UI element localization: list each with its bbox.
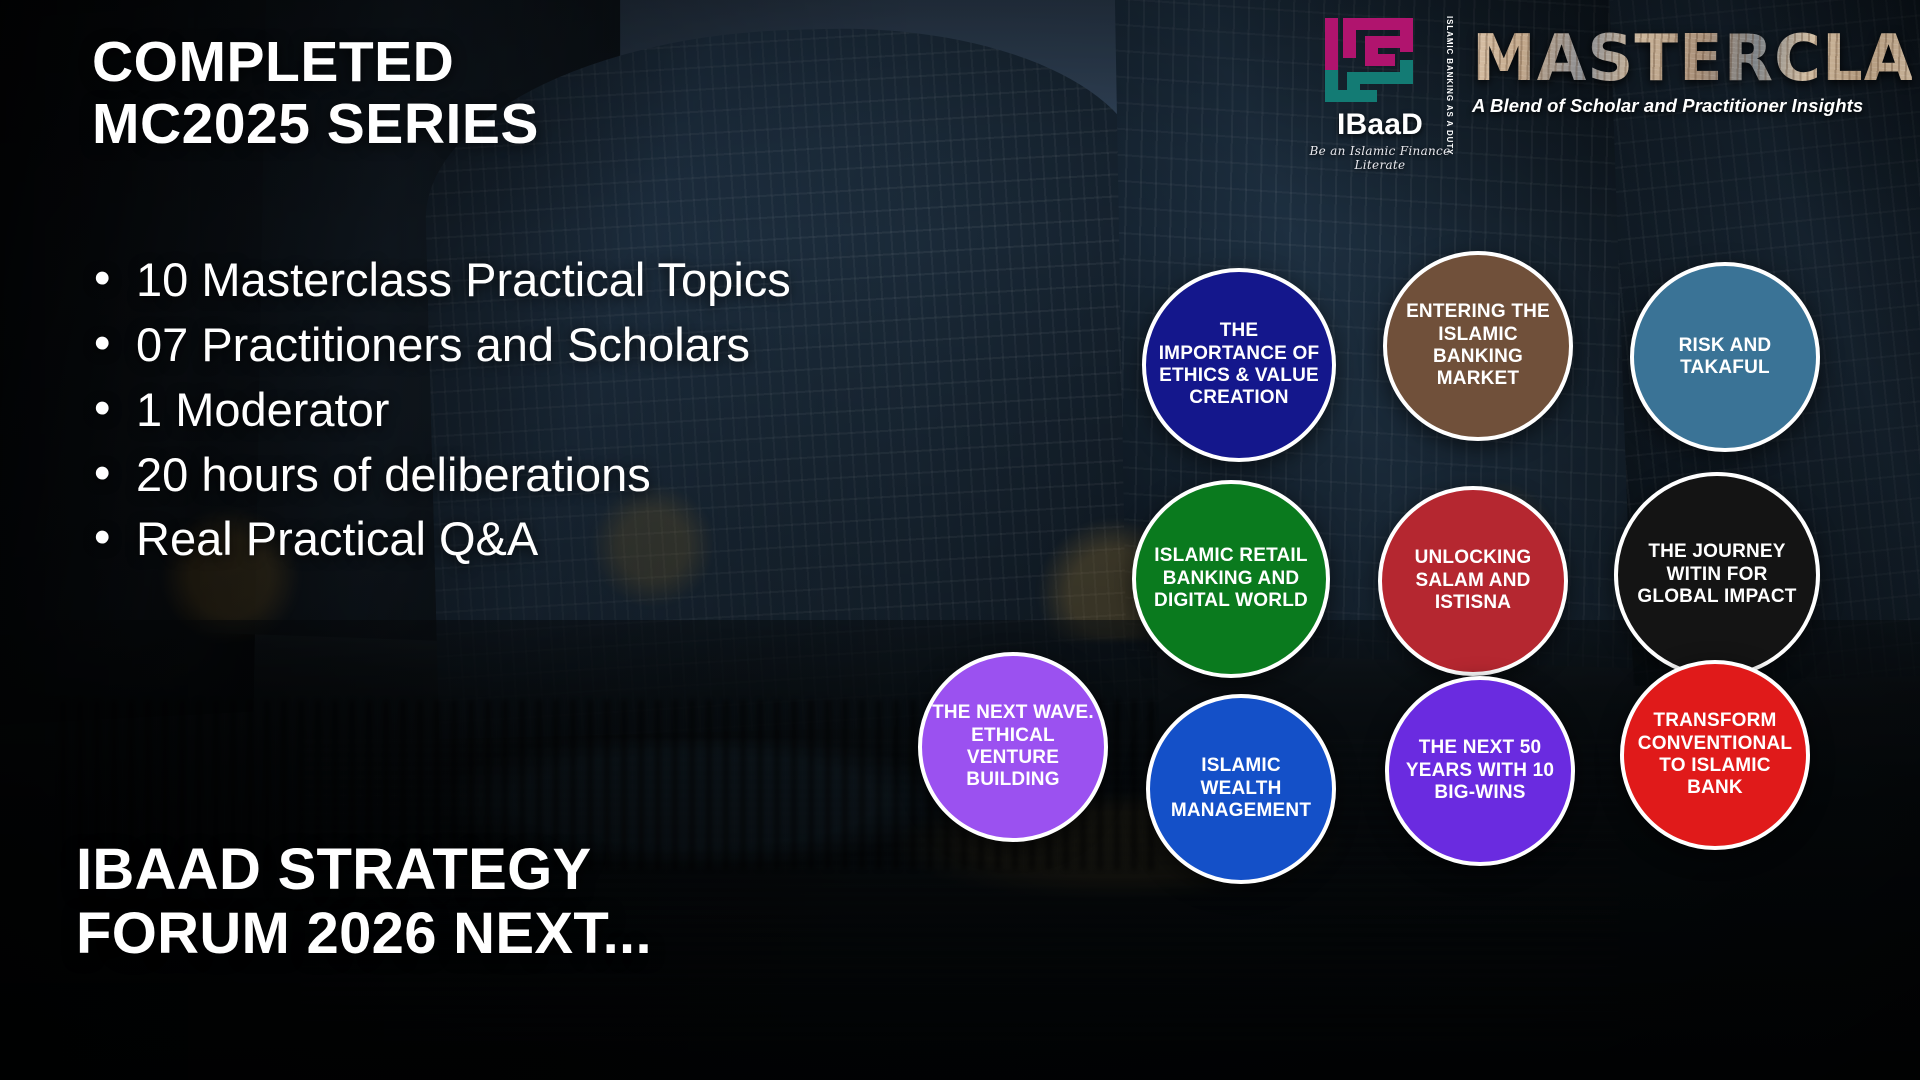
topic-bubble-label: RISK AND TAKAFUL bbox=[1644, 335, 1806, 380]
topic-bubble[interactable]: THE IMPORTANCE OF ETHICS & VALUE CREATIO… bbox=[1142, 268, 1336, 462]
topic-bubble[interactable]: UNLOCKING SALAM AND ISTISNA bbox=[1378, 486, 1568, 676]
topic-bubble-label: TRANSFORM CONVENTIONAL TO ISLAMIC BANK bbox=[1634, 710, 1796, 800]
topic-bubble-label: THE NEXT WAVE. ETHICAL VENTURE BUILDING bbox=[932, 702, 1094, 792]
topic-bubble-label: THE IMPORTANCE OF ETHICS & VALUE CREATIO… bbox=[1156, 320, 1322, 410]
topic-bubble[interactable]: THE NEXT WAVE. ETHICAL VENTURE BUILDING bbox=[918, 652, 1108, 842]
topic-bubble[interactable]: RISK AND TAKAFUL bbox=[1630, 262, 1820, 452]
topic-bubble-label: THE JOURNEY WITIN FOR GLOBAL IMPACT bbox=[1628, 541, 1806, 608]
topic-bubble[interactable]: ENTERING THE ISLAMIC BANKING MARKET bbox=[1383, 251, 1573, 441]
topic-bubble-cluster: THE IMPORTANCE OF ETHICS & VALUE CREATIO… bbox=[0, 0, 1920, 1080]
topic-bubble-label: ISLAMIC WEALTH MANAGEMENT bbox=[1160, 755, 1322, 822]
topic-bubble[interactable]: THE JOURNEY WITIN FOR GLOBAL IMPACT bbox=[1614, 472, 1820, 678]
topic-bubble-label: ENTERING THE ISLAMIC BANKING MARKET bbox=[1397, 301, 1559, 391]
topic-bubble[interactable]: TRANSFORM CONVENTIONAL TO ISLAMIC BANK bbox=[1620, 660, 1810, 850]
topic-bubble[interactable]: ISLAMIC RETAIL BANKING AND DIGITAL WORLD bbox=[1132, 480, 1330, 678]
topic-bubble-label: UNLOCKING SALAM AND ISTISNA bbox=[1392, 547, 1554, 614]
topic-bubble[interactable]: THE NEXT 50 YEARS WITH 10 BIG-WINS bbox=[1385, 676, 1575, 866]
topic-bubble-label: THE NEXT 50 YEARS WITH 10 BIG-WINS bbox=[1399, 737, 1561, 804]
topic-bubble[interactable]: ISLAMIC WEALTH MANAGEMENT bbox=[1146, 694, 1336, 884]
topic-bubble-label: ISLAMIC RETAIL BANKING AND DIGITAL WORLD bbox=[1146, 545, 1316, 612]
